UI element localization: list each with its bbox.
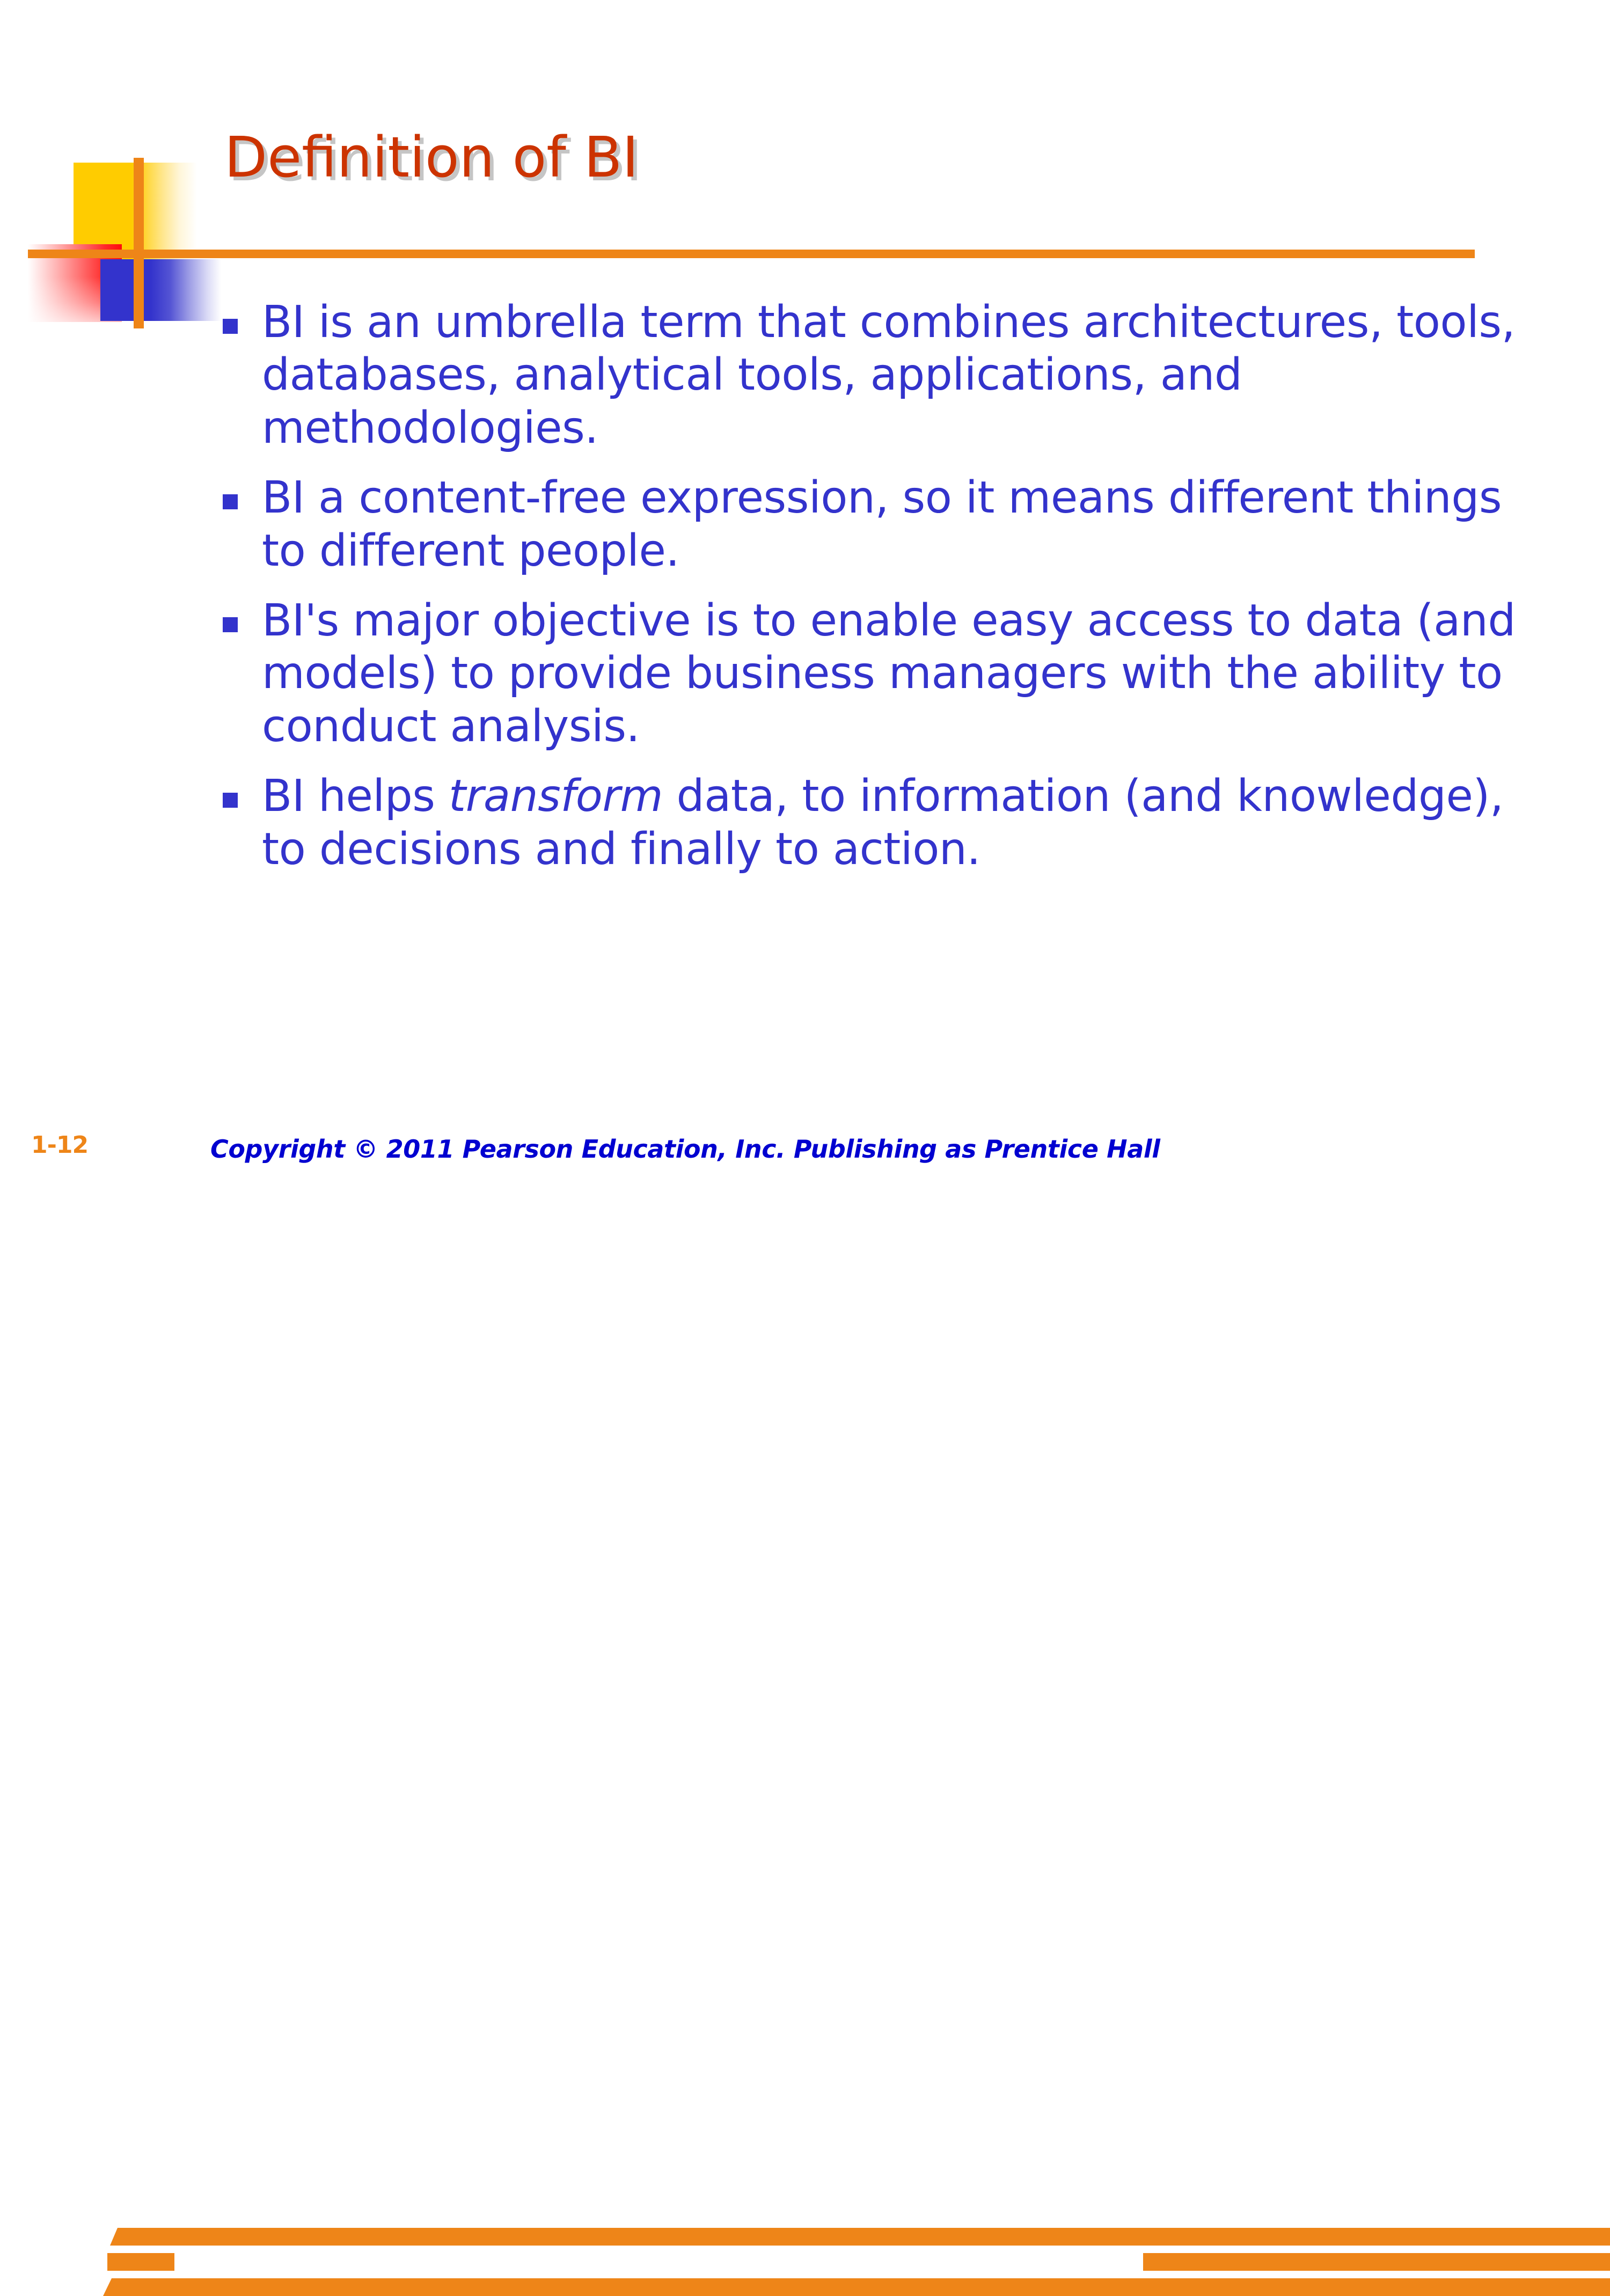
list-item-text: BI a content-free expression, so it mean… [262,472,1548,577]
list-item-text: BI helps transform data, to information … [262,770,1548,876]
footer-bar-top [110,2228,1610,2246]
emphasis-text: transform [449,771,663,822]
list-item-text: BI is an umbrella term that combines arc… [262,296,1548,455]
copyright-notice: Copyright © 2011 Pearson Education, Inc.… [210,1135,1160,1164]
list-item: BI helps transform data, to information … [223,770,1548,876]
square-bullet-icon [223,793,238,808]
page-number: 1-12 [31,1131,88,1159]
list-item: BI is an umbrella term that combines arc… [223,296,1548,455]
footer-bar-mid-left [107,2253,174,2271]
title-divider-rule [28,250,1475,258]
square-bullet-icon [223,319,238,334]
list-item: BI's major objective is to enable easy a… [223,595,1548,753]
list-item: BI a content-free expression, so it mean… [223,472,1548,577]
page-title: Definition of BI [224,128,1459,187]
slide-canvas: Definition of BI BI is an umbrella term … [0,0,1610,1208]
orange-vertical-bar-icon [134,158,144,328]
footer-bar-mid-right [1143,2253,1610,2271]
blue-gradient-square-icon [100,259,221,321]
slide-body-list: BI is an umbrella term that combines arc… [223,296,1548,876]
list-item-text: BI's major objective is to enable easy a… [262,595,1548,753]
square-bullet-icon [223,494,238,509]
square-bullet-icon [223,617,238,632]
footer-bar-bottom [103,2278,1610,2296]
